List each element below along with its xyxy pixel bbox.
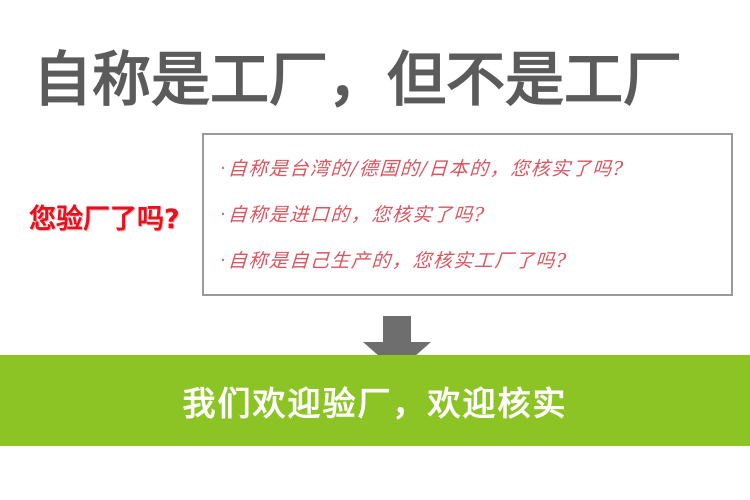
- welcome-banner-label: 我们欢迎验厂，欢迎核实: [0, 355, 750, 446]
- poster-canvas: 自称是工厂，但不是工厂 您验厂了吗? · 自称是台湾的/德国的/日本的，您核实了…: [0, 0, 750, 500]
- list-item-label: 自称是自己生产的，您核实工厂了吗?: [227, 241, 569, 281]
- page-title: 自称是工厂，但不是工厂: [33, 44, 743, 116]
- verify-factory-callout: 您验厂了吗?: [29, 203, 180, 237]
- list-item: · 自称是进口的，您核实了吗?: [204, 195, 731, 241]
- list-item-label: 自称是台湾的/德国的/日本的，您核实了吗?: [227, 149, 626, 189]
- list-item: · 自称是台湾的/德国的/日本的，您核实了吗?: [204, 149, 731, 195]
- list-item-label: 自称是进口的，您核实了吗?: [227, 195, 487, 235]
- list-item: · 自称是自己生产的，您核实工厂了吗?: [204, 241, 731, 287]
- welcome-banner: 我们欢迎验厂，欢迎核实: [0, 355, 750, 446]
- questions-box: · 自称是台湾的/德国的/日本的，您核实了吗? · 自称是进口的，您核实了吗? …: [202, 133, 733, 296]
